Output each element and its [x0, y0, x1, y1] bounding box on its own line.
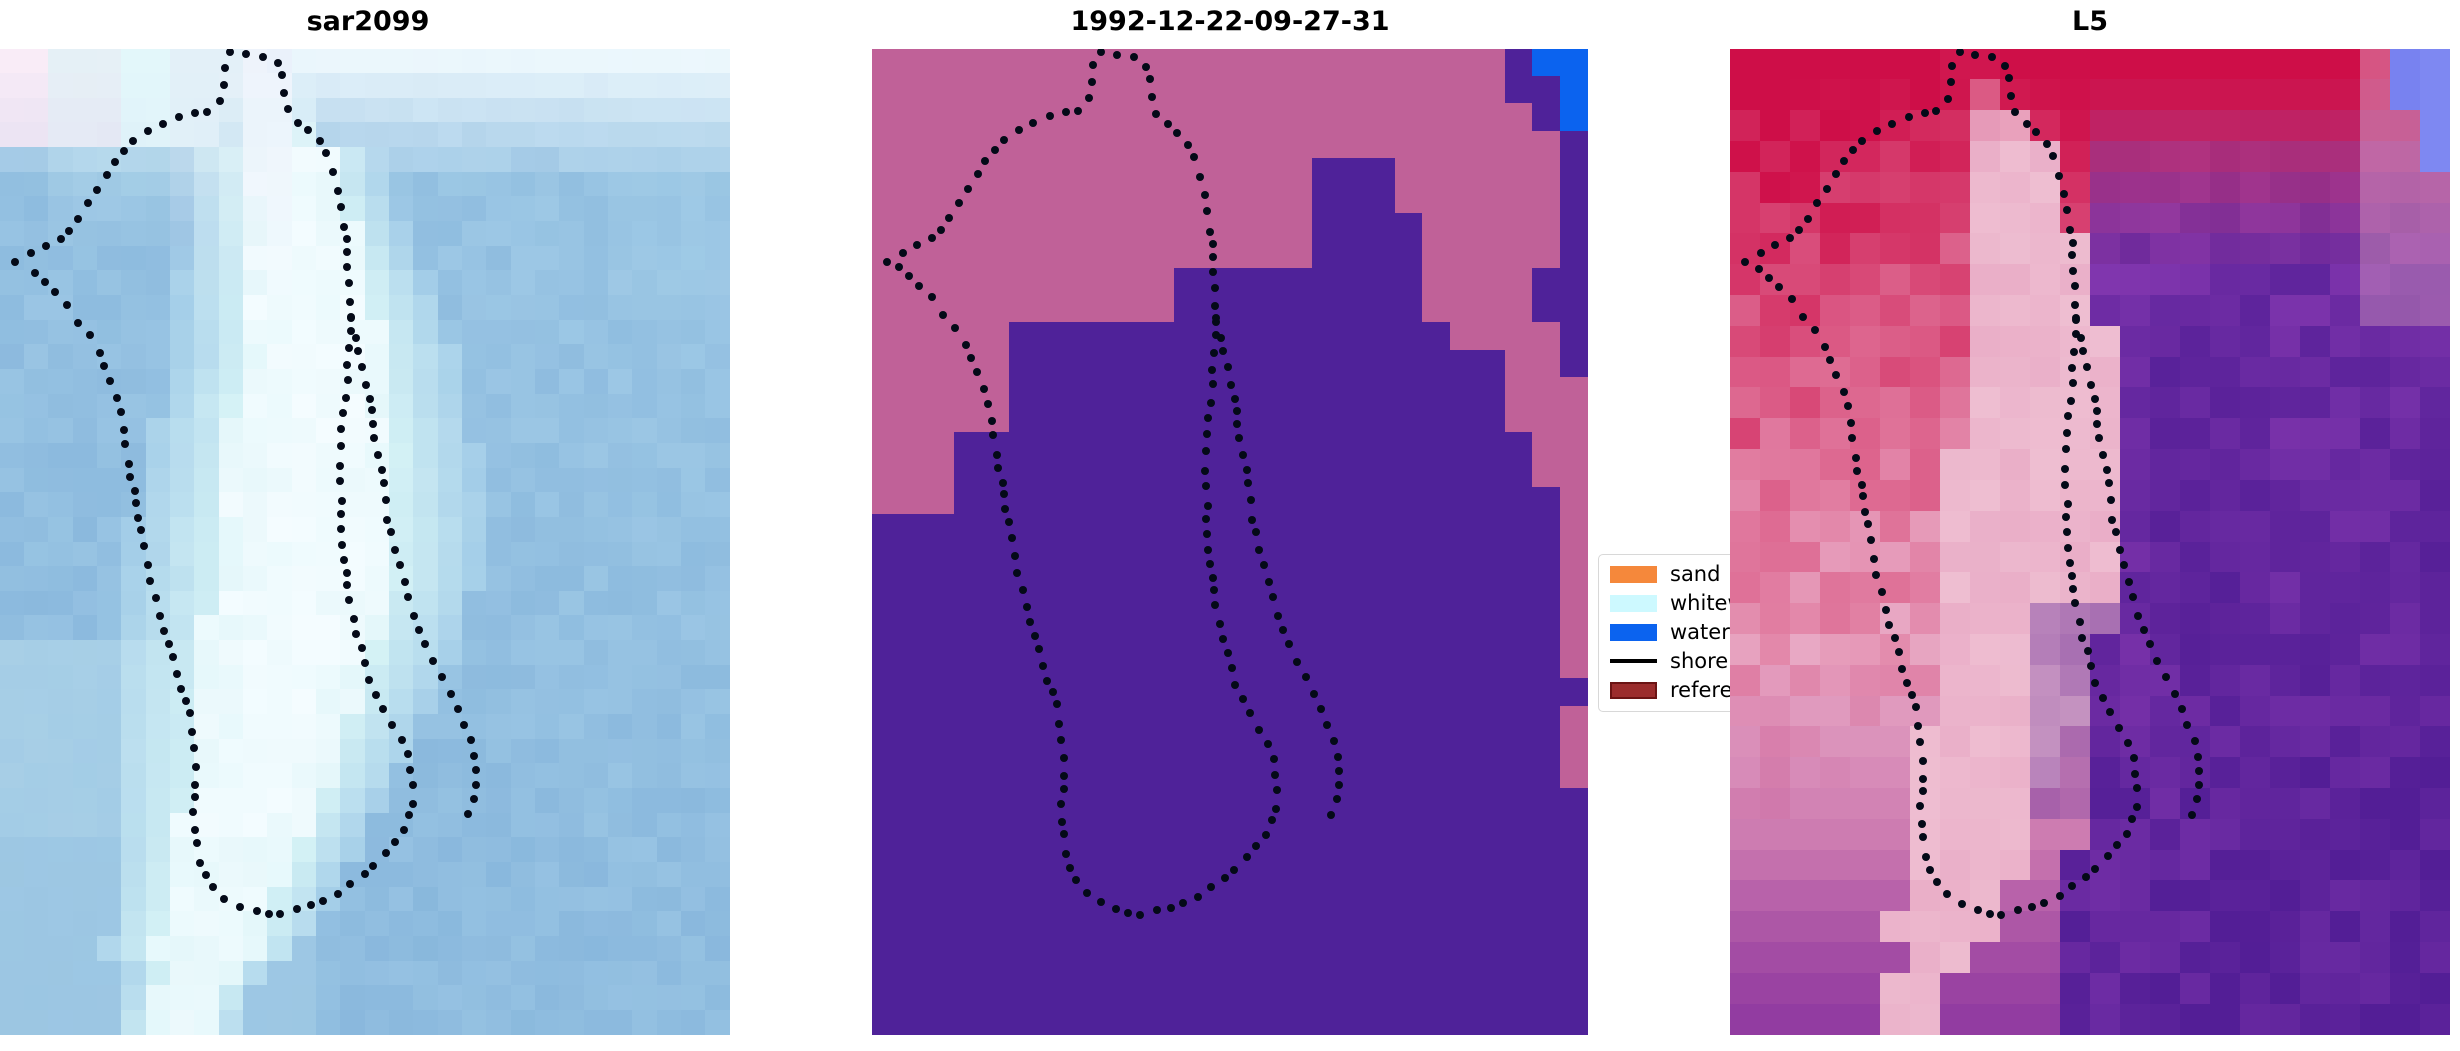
shoreline-dot [57, 235, 65, 243]
shoreline-dot [2007, 92, 2015, 100]
shoreline-dot [2130, 754, 2138, 762]
shoreline-dot [2128, 815, 2136, 823]
shoreline-dot [409, 800, 417, 808]
shoreline-dot [2061, 481, 2069, 489]
shoreline-dot [1146, 75, 1154, 83]
shoreline-dot [1196, 173, 1204, 181]
shoreline-dot [146, 577, 154, 585]
shoreline-dot [470, 795, 478, 803]
shoreline-dot [1209, 268, 1217, 276]
shoreline-dot [1224, 363, 1232, 371]
shoreline-dot [2071, 599, 2079, 607]
shoreline-dot [152, 594, 160, 602]
shoreline-dot [51, 288, 59, 296]
shoreline-dot [994, 464, 1002, 472]
shoreline-dot [1113, 51, 1121, 59]
shoreline-dot [1905, 113, 1913, 121]
shoreline-dot [388, 721, 396, 729]
shoreline-dot [1074, 107, 1082, 115]
shoreline-dot [2079, 347, 2087, 355]
shoreline-dot [2191, 737, 2199, 745]
shoreline-dot [372, 691, 380, 699]
shoreline-dot [1209, 240, 1217, 248]
shoreline-dot [1243, 853, 1251, 861]
shoreline-dot [1274, 612, 1282, 620]
shoreline-dot [1853, 467, 1861, 475]
shoreline-dot [2063, 206, 2071, 214]
shoreline-dot [1217, 334, 1225, 342]
shoreline-dot [1219, 635, 1227, 643]
shoreline-dot [2062, 513, 2070, 521]
shoreline-dot [144, 127, 152, 135]
shoreline-dot [342, 394, 350, 402]
shoreline-dot [1974, 906, 1982, 914]
shoreline-dot [338, 497, 346, 505]
shoreline-dot [383, 516, 391, 524]
shoreline-dot [1861, 508, 1869, 516]
shoreline-dot [962, 341, 970, 349]
shoreline-dot [1971, 51, 1979, 59]
shoreline-dot [2091, 679, 2099, 687]
shoreline-dot [113, 394, 121, 402]
shoreline-dot [967, 354, 975, 362]
shoreline-dot [1204, 502, 1212, 510]
shoreline-dot [63, 301, 71, 309]
shoreline-dot [2066, 559, 2074, 567]
shoreline-dot [340, 556, 348, 564]
shoreline-dot [1207, 883, 1215, 891]
shoreline-dot [937, 226, 945, 234]
shoreline-dot [2028, 903, 2036, 911]
shoreline-dot [209, 883, 217, 891]
shoreline-dot [140, 542, 148, 550]
shoreline-dot [259, 53, 267, 61]
shoreline-dot [1919, 787, 1927, 795]
shoreline-dot [2056, 892, 2064, 900]
shoreline-dot [189, 808, 197, 816]
shoreline-dot [1878, 588, 1886, 596]
shoreline-dot [2082, 873, 2090, 881]
shoreline-dot [1262, 831, 1270, 839]
shoreline-dot [11, 258, 19, 266]
shoreline-dot [2061, 465, 2069, 473]
shoreline-dot [1167, 904, 1175, 912]
shoreline-dot [343, 581, 351, 589]
shoreline-dot [1029, 119, 1037, 127]
shoreline-dot [120, 426, 128, 434]
shoreline-dot [339, 409, 347, 417]
shoreline-dot [2099, 451, 2107, 459]
shoreline-dot [358, 363, 366, 371]
shoreline-dot [2077, 334, 2085, 342]
shoreline-dot [2068, 572, 2076, 580]
shoreline-dot [343, 569, 351, 577]
shoreline-dot [1330, 737, 1338, 745]
shoreline-dot [1013, 569, 1021, 577]
shoreline-dot [999, 479, 1007, 487]
shoreline-dot [454, 705, 462, 713]
shoreline-dot [1285, 640, 1293, 648]
shoreline-dot [361, 870, 369, 878]
shoreline-dot [2069, 267, 2077, 275]
shoreline-overlay-classified [872, 49, 1588, 1035]
shoreline-dot [2055, 172, 2063, 180]
shoreline-dot [1943, 890, 1951, 898]
shoreline-dot [1293, 658, 1301, 666]
shoreline-dot [366, 395, 374, 403]
shoreline-dot [336, 477, 344, 485]
shoreline-dot [1204, 414, 1212, 422]
shoreline-dot [1209, 380, 1217, 388]
shoreline-dot [1885, 621, 1893, 629]
shoreline-dot [1988, 53, 1996, 61]
shoreline-dot [293, 905, 301, 913]
shoreline-dot [2084, 647, 2092, 655]
shoreline-dot [165, 640, 173, 648]
shoreline-dot [280, 89, 288, 97]
shoreline-dot [1209, 574, 1217, 582]
shoreline-dot [220, 895, 228, 903]
shoreline-dot [1202, 515, 1210, 523]
shoreline-dot [1813, 199, 1821, 207]
shoreline-dot [1898, 665, 1906, 673]
shoreline-dot [1914, 722, 1922, 730]
shoreline-dot [2120, 561, 2128, 569]
shoreline-dot [1057, 800, 1065, 808]
shoreline-dot [2076, 618, 2084, 626]
shoreline-dot [1821, 343, 1829, 351]
shoreline-dot [177, 685, 185, 693]
shoreline-dot [1858, 481, 1866, 489]
shoreline-dot [125, 460, 133, 468]
shoreline-dot [2011, 108, 2019, 116]
shoreline-dot [1208, 366, 1216, 374]
shoreline-dot [2071, 282, 2079, 290]
shoreline-dot [191, 109, 199, 117]
shoreline-dot [1097, 49, 1105, 56]
shoreline-dot [242, 50, 250, 58]
shoreline-dot [1239, 451, 1247, 459]
shoreline-dot [2108, 516, 2116, 524]
shoreline-dot [2178, 705, 2186, 713]
shoreline-dot [2095, 434, 2103, 442]
panel-title-l5: L5 [1890, 8, 2290, 35]
shoreline-dot [980, 385, 988, 393]
shoreline-dot [2091, 865, 2099, 873]
shoreline-overlay-l5 [1730, 49, 2450, 1035]
shoreline-dot [421, 640, 429, 648]
shoreline-dot [1055, 720, 1063, 728]
shoreline-dot [1268, 816, 1276, 824]
shoreline-dot [1919, 775, 1927, 783]
shoreline-dot [1211, 302, 1219, 310]
shoreline-dot [401, 578, 409, 586]
shoreline-dot [137, 526, 145, 534]
legend-swatch-whitewater [1610, 595, 1657, 612]
shoreline-dot [1958, 900, 1966, 908]
shoreline-dot [2124, 739, 2132, 747]
shoreline-dot [358, 644, 366, 652]
shoreline-dot [991, 146, 999, 154]
shoreline-dot [131, 487, 139, 495]
shoreline-dot [2106, 708, 2114, 716]
shoreline-dot [1252, 842, 1260, 850]
shoreline-dot [2099, 694, 2107, 702]
shoreline-dot [1757, 249, 1765, 257]
shoreline-dot [2093, 407, 2101, 415]
shoreline-dot [278, 71, 286, 79]
shoreline-dot [106, 377, 114, 385]
shoreline-dot [1148, 93, 1156, 101]
shoreline-dot [2069, 239, 2077, 247]
shoreline-dot [343, 263, 351, 271]
shoreline-dot [1327, 811, 1335, 819]
shoreline-dot [340, 223, 348, 231]
shoreline-dot [404, 750, 412, 758]
shoreline-dot [928, 293, 936, 301]
shoreline-dot [1847, 419, 1855, 427]
shoreline-dot [337, 510, 345, 518]
shoreline-dot [2083, 363, 2091, 371]
shoreline-dot [398, 736, 406, 744]
shoreline-dot [2068, 882, 2076, 890]
shoreline-dot [1264, 740, 1272, 748]
shoreline-dot [307, 901, 315, 909]
shoreline-dot [1201, 467, 1209, 475]
shoreline-dot [1265, 578, 1273, 586]
shoreline-dot [1933, 878, 1941, 886]
shoreline-dot [1233, 420, 1241, 428]
shoreline-dot [2123, 830, 2131, 838]
shoreline-dot [2067, 397, 2075, 405]
shoreline-dot [1019, 586, 1027, 594]
shoreline-dot [186, 709, 194, 717]
shoreline-dot [1211, 601, 1219, 609]
shoreline-dot [2087, 381, 2095, 389]
shoreline-dot [1918, 820, 1926, 828]
shoreline-dot [1916, 802, 1924, 810]
shoreline-dot [334, 187, 342, 195]
shoreline-dot [1221, 874, 1229, 882]
shoreline-dot [928, 234, 936, 242]
shoreline-dot [391, 838, 399, 846]
legend-swatch-reference-shoreline [1610, 682, 1657, 699]
shoreline-dot [322, 149, 330, 157]
shoreline-dot [2063, 429, 2071, 437]
shoreline-dot [1840, 388, 1848, 396]
shoreline-dot [350, 615, 358, 623]
shoreline-dot [1333, 795, 1341, 803]
shoreline-dot [2171, 690, 2179, 698]
shoreline-dot [343, 248, 351, 256]
shoreline-dot [336, 462, 344, 470]
shoreline-dot [368, 406, 376, 414]
shoreline-dot [2112, 528, 2120, 536]
shoreline-dot [1741, 258, 1749, 266]
shoreline-dot [1043, 677, 1051, 685]
shoreline-dot [276, 910, 284, 918]
shoreline-dot [144, 561, 152, 569]
shoreline-dot [470, 752, 478, 760]
shoreline-dot [472, 766, 480, 774]
shoreline-dot [915, 282, 923, 290]
shoreline-dot [1771, 241, 1779, 249]
shoreline-dot [370, 434, 378, 442]
shoreline-dot [464, 810, 472, 818]
shoreline-dot [74, 215, 82, 223]
shoreline-dot [2183, 721, 2191, 729]
shoreline-dot [1811, 326, 1819, 334]
shoreline-dot [409, 781, 417, 789]
shoreline-dot [352, 334, 360, 342]
shoreline-dot [1272, 805, 1280, 813]
shoreline-dot [334, 890, 342, 898]
shoreline-dot [1870, 555, 1878, 563]
shoreline-dot [1317, 705, 1325, 713]
shoreline-dot [196, 859, 204, 867]
shoreline-dot [173, 670, 181, 678]
shoreline-dot [74, 319, 82, 327]
shoreline-dot [1142, 63, 1150, 71]
shoreline-dot [1916, 738, 1924, 746]
shoreline-dot [1840, 157, 1848, 165]
shoreline-dot [1244, 479, 1252, 487]
shoreline-dot [382, 496, 390, 504]
shoreline-dot [1873, 127, 1881, 135]
shoreline-dot [1246, 709, 1254, 717]
shoreline-dot [382, 849, 390, 857]
shoreline-dot [1804, 215, 1812, 223]
shoreline-dot [1031, 632, 1039, 640]
shoreline-dot [438, 673, 446, 681]
shoreline-dot [374, 451, 382, 459]
shoreline-dot [1088, 78, 1096, 86]
legend-item-sand: sand [1610, 562, 1720, 586]
shoreline-dot [2113, 841, 2121, 849]
shoreline-dot [1239, 695, 1247, 703]
shoreline-dot [2133, 803, 2141, 811]
shoreline-dot [1948, 62, 1956, 70]
shoreline-dot [1270, 755, 1278, 763]
shoreline-dot [202, 871, 210, 879]
panel-title-classified: 1992-12-22-09-27-31 [930, 8, 1530, 35]
shoreline-dot [369, 862, 377, 870]
shoreline-dot [2064, 544, 2072, 552]
shoreline-overlay-sar [0, 49, 730, 1035]
shoreline-dot [2193, 795, 2201, 803]
shoreline-dot [1152, 110, 1160, 118]
shoreline-dot [2032, 128, 2040, 136]
panel-title-sar-text: sar2099 [307, 6, 430, 37]
shoreline-dot [192, 763, 200, 771]
shoreline-dot [1795, 226, 1803, 234]
shoreline-dot [899, 249, 907, 257]
shoreline-dot [945, 214, 953, 222]
shoreline-dot [1997, 911, 2005, 919]
shoreline-dot [1908, 691, 1916, 699]
shoreline-dot [1005, 518, 1013, 526]
shoreline-dot [1153, 906, 1161, 914]
shoreline-dot [447, 690, 455, 698]
shoreline-dot [120, 147, 128, 155]
shoreline-dot [2134, 612, 2142, 620]
shoreline-dot [1083, 889, 1091, 897]
shoreline-dot [42, 242, 50, 250]
shoreline-dot [1015, 126, 1023, 134]
shoreline-dot [1852, 454, 1860, 462]
shoreline-dot [1210, 586, 1218, 594]
shoreline-dot [1832, 170, 1840, 178]
shoreline-dot [1060, 830, 1068, 838]
shoreline-dot [1255, 546, 1263, 554]
shoreline-dot [2116, 546, 2124, 554]
shoreline-dot [2078, 634, 2086, 642]
shoreline-dot [1046, 112, 1054, 120]
shoreline-dot [989, 431, 997, 439]
shoreline-dot [2005, 74, 2013, 82]
shoreline-dot [1164, 120, 1172, 128]
shoreline-dot [1279, 626, 1287, 634]
shoreline-dot [1206, 560, 1214, 568]
shoreline-dot [1849, 146, 1857, 154]
shoreline-dot [93, 186, 101, 194]
shoreline-dot [216, 97, 224, 105]
shoreline-dot [156, 612, 164, 620]
shoreline-dot [1231, 395, 1239, 403]
shoreline-dot [905, 272, 913, 280]
shoreline-dot [460, 721, 468, 729]
shoreline-dot [1124, 909, 1132, 917]
shoreline-dot [993, 451, 1001, 459]
shoreline-dot [2103, 466, 2111, 474]
shoreline-dot [284, 105, 292, 113]
shoreline-dot [1335, 767, 1343, 775]
legend-label-sand: sand [1670, 564, 1720, 585]
shoreline-dot [221, 64, 229, 72]
shoreline-dot [984, 400, 992, 408]
shoreline-dot [429, 657, 437, 665]
shoreline-dot [1867, 536, 1875, 544]
shoreline-dot [1252, 528, 1260, 536]
shoreline-dot [1062, 850, 1070, 858]
shoreline-dot [1206, 228, 1214, 236]
shoreline-dot [2068, 364, 2076, 372]
shoreline-dot [2087, 662, 2095, 670]
shoreline-dot [410, 612, 418, 620]
shoreline-dot [337, 525, 345, 533]
shoreline-dot [1775, 283, 1783, 291]
shoreline-dot [345, 279, 353, 287]
shoreline-dot [1204, 546, 1212, 554]
shoreline-dot [236, 903, 244, 911]
shoreline-dot [2093, 420, 2101, 428]
shoreline-dot [1026, 618, 1034, 626]
legend-swatch-sand [1610, 566, 1657, 583]
shoreline-dot [406, 766, 414, 774]
legend-item-water: water [1610, 620, 1730, 644]
legend-swatch-shoreline [1610, 659, 1657, 663]
shoreline-dot [1203, 207, 1211, 215]
shoreline-dot [1858, 137, 1866, 145]
shoreline-dot [1786, 234, 1794, 242]
shoreline-dot [319, 897, 327, 905]
shoreline-dot [396, 561, 404, 569]
shoreline-dot [1788, 295, 1796, 303]
shoreline-dot [1944, 95, 1952, 103]
shoreline-dot [1190, 153, 1198, 161]
shoreline-dot [343, 361, 351, 369]
shoreline-dot [1023, 603, 1031, 611]
